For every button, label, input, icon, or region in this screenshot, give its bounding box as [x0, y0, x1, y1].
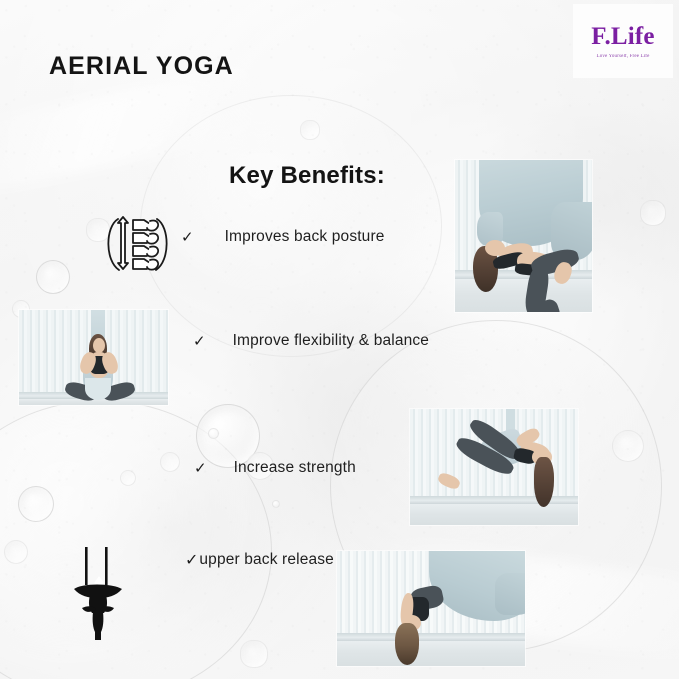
page-title: AERIAL YOGA [49, 52, 234, 81]
photo-inverted-split [410, 409, 578, 525]
benefit-item-2[interactable]: ✓ Improve flexibility & balance [193, 332, 429, 350]
benefit-item-3[interactable]: ✓ Increase strength [194, 459, 356, 477]
brand-logo: F.Life Love Yourself, Free Life [573, 4, 673, 78]
photo-seated-prayer-pose [19, 310, 168, 405]
photo-upside-down-hang [337, 551, 525, 666]
check-icon: ✓ [185, 552, 198, 568]
aerial-hammock-silhouette-icon [64, 545, 132, 643]
benefit-item-1[interactable]: ✓ Improves back posture [181, 228, 385, 246]
logo-wordmark: F.Life [591, 24, 654, 49]
check-icon: ✓ [194, 461, 207, 476]
check-icon: ✓ [193, 334, 206, 349]
benefit-label: Improves back posture [225, 228, 385, 246]
benefit-label: Improve flexibility & balance [233, 332, 429, 350]
benefit-label: Increase strength [234, 459, 356, 477]
key-benefits-heading: Key Benefits: [229, 162, 385, 190]
infographic-canvas: AERIAL YOGA F.Life Love Yourself, Free L… [0, 0, 679, 679]
photo-aerial-hammock-backbend [455, 160, 592, 312]
logo-tagline: Love Yourself, Free Life [597, 54, 650, 59]
benefit-label: upper back release [199, 551, 334, 569]
check-icon: ✓ [181, 230, 194, 245]
benefit-item-4[interactable]: ✓ upper back release [185, 551, 334, 569]
spine-vertebrae-icon [100, 207, 176, 279]
